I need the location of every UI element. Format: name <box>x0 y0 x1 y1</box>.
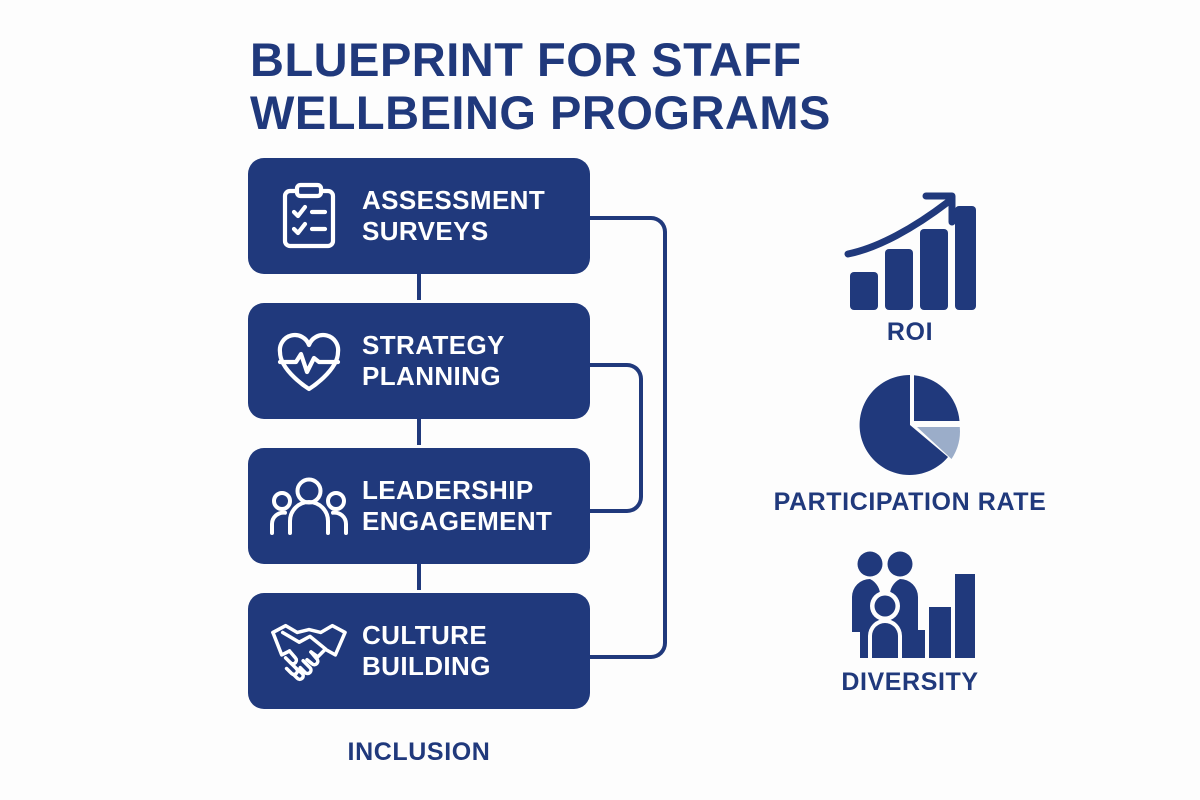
flow-step-label-line-1: ASSESSMENT <box>362 185 545 216</box>
flow-step-label-line-1: CULTURE <box>362 620 491 651</box>
flow-step-label: LEADERSHIP ENGAGEMENT <box>362 475 552 536</box>
infographic-canvas: BLUEPRINT FOR STAFF WELLBEING PROGRAMS A… <box>0 0 1200 800</box>
page-title-line-1: BLUEPRINT FOR STAFF <box>250 34 890 87</box>
metric-participation-rate: PARTICIPATION RATE <box>760 370 1060 517</box>
metric-label: DIVERSITY <box>770 668 1050 697</box>
flow-step-label-line-1: LEADERSHIP <box>362 475 552 506</box>
people-bar-chart-icon <box>770 550 1050 660</box>
heart-pulse-icon <box>270 322 348 400</box>
flow-step-leadership-engagement[interactable]: LEADERSHIP ENGAGEMENT <box>248 448 590 564</box>
metric-roi: ROI <box>770 192 1050 347</box>
pie-chart-icon <box>760 370 1060 480</box>
metric-diversity: DIVERSITY <box>770 550 1050 697</box>
flow-step-label: CULTURE BUILDING <box>362 620 491 681</box>
flow-step-assessment-surveys[interactable]: ASSESSMENT SURVEYS <box>248 158 590 274</box>
flow-step-label-line-2: BUILDING <box>362 651 491 682</box>
clipboard-checklist-icon <box>270 177 348 255</box>
flow-step-label-line-1: STRATEGY <box>362 330 505 361</box>
flow-step-label-line-2: SURVEYS <box>362 216 545 247</box>
handshake-icon <box>270 612 348 690</box>
page-title-line-2: WELLBEING PROGRAMS <box>250 87 890 140</box>
growth-bar-chart-arrow-icon <box>770 192 1050 310</box>
metric-label: ROI <box>770 318 1050 347</box>
flow-step-label: ASSESSMENT SURVEYS <box>362 185 545 246</box>
flow-step-culture-building[interactable]: CULTURE BUILDING <box>248 593 590 709</box>
people-group-icon <box>270 467 348 545</box>
flow-step-strategy-planning[interactable]: STRATEGY PLANNING <box>248 303 590 419</box>
page-title: BLUEPRINT FOR STAFF WELLBEING PROGRAMS <box>250 34 890 139</box>
bracket-inner-step2-step3 <box>588 363 643 513</box>
inclusion-caption: INCLUSION <box>248 738 590 767</box>
metric-label: PARTICIPATION RATE <box>760 488 1060 517</box>
flow-step-label-line-2: PLANNING <box>362 361 505 392</box>
flow-step-label: STRATEGY PLANNING <box>362 330 505 391</box>
flow-step-label-line-2: ENGAGEMENT <box>362 506 552 537</box>
